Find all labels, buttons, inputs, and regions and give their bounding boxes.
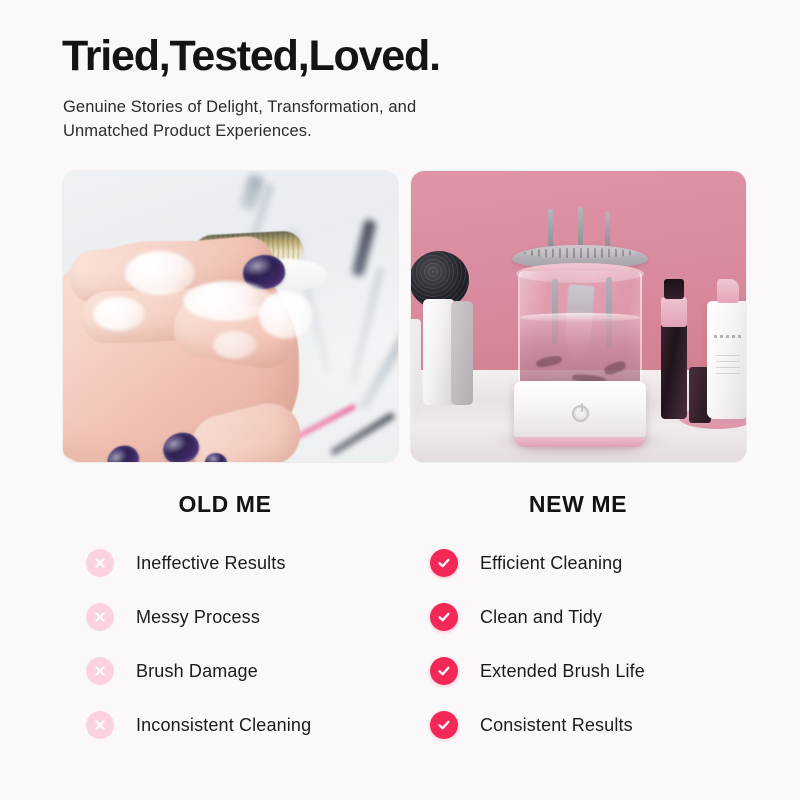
check-circle-icon (430, 711, 458, 739)
list-item-label: Efficient Cleaning (480, 553, 622, 574)
soap-suds (213, 331, 257, 359)
bottle-label-text (716, 355, 740, 377)
x-circle-icon (86, 711, 114, 739)
list-item: Clean and Tidy (430, 602, 645, 632)
device-water-chamber (518, 271, 642, 389)
new-me-photo-scene (411, 171, 746, 462)
list-item-label: Messy Process (136, 607, 260, 628)
old-me-heading: OLD ME (60, 491, 390, 518)
list-item: Efficient Cleaning (430, 548, 645, 578)
page-subtitle: Genuine Stories of Delight, Transformati… (63, 96, 493, 144)
list-item: Extended Brush Life (430, 656, 645, 686)
soap-suds (93, 297, 145, 331)
old-me-photo-scene (63, 171, 398, 462)
soap-suds (125, 251, 195, 295)
list-item: Consistent Results (430, 710, 645, 740)
soap-suds (259, 291, 313, 339)
list-item-label: Consistent Results (480, 715, 633, 736)
list-item: Inconsistent Cleaning (86, 710, 311, 740)
brush-cleaner-device (512, 209, 648, 443)
check-circle-icon (430, 657, 458, 685)
new-me-list: Efficient Cleaning Clean and Tidy Extend… (430, 548, 645, 764)
device-base (514, 381, 646, 447)
brush-holder (411, 319, 421, 415)
list-item-label: Clean and Tidy (480, 607, 602, 628)
x-circle-icon (86, 603, 114, 631)
list-item: Ineffective Results (86, 548, 311, 578)
x-circle-icon (86, 549, 114, 577)
device-rods (512, 209, 648, 249)
check-circle-icon (430, 603, 458, 631)
list-item-label: Brush Damage (136, 661, 258, 682)
new-me-photo (411, 171, 746, 462)
list-item-label: Extended Brush Life (480, 661, 645, 682)
old-me-photo (63, 171, 398, 462)
bottle-label (714, 335, 742, 338)
rod (548, 209, 553, 251)
new-me-heading: NEW ME (413, 491, 743, 518)
check-circle-icon (430, 549, 458, 577)
list-item-label: Ineffective Results (136, 553, 286, 574)
power-button-icon[interactable] (572, 405, 589, 422)
list-item-label: Inconsistent Cleaning (136, 715, 311, 736)
lotion-bottle (707, 301, 746, 419)
promo-comparison-page: Tried,Tested,Loved. Genuine Stories of D… (0, 0, 800, 800)
page-title: Tried,Tested,Loved. (62, 33, 440, 79)
old-me-list: Ineffective Results Messy Process Brush … (86, 548, 311, 764)
list-item: Messy Process (86, 602, 311, 632)
cosmetic-bottle (661, 323, 687, 419)
brush-holder (451, 301, 473, 405)
x-circle-icon (86, 657, 114, 685)
list-item: Brush Damage (86, 656, 311, 686)
